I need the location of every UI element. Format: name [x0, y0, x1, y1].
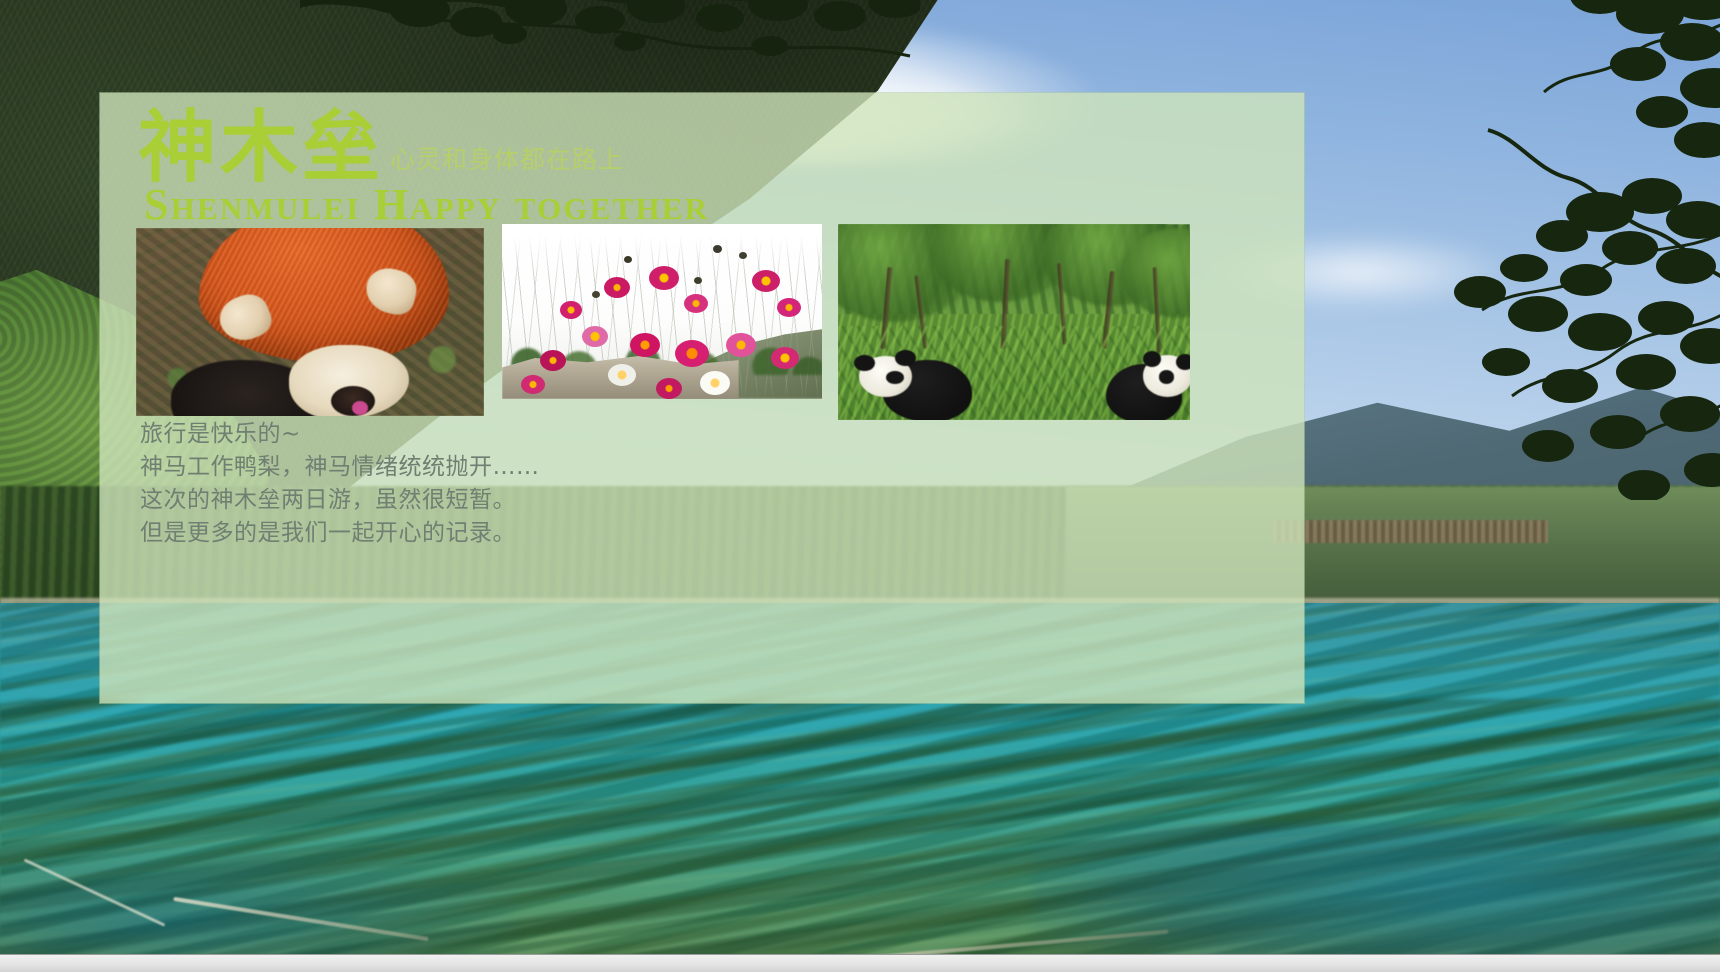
page-subtitle-cn: 心灵和身体都在路上 — [390, 145, 624, 175]
cosmos-bloom — [752, 270, 780, 292]
cosmos-bloom — [649, 266, 679, 290]
cosmos-bloom — [630, 333, 660, 357]
cosmos-bloom — [656, 378, 682, 399]
slide-canvas: 神木垒 心灵和身体都在路上 Shenmulei Happy together — [0, 0, 1720, 972]
bottom-status-bar — [0, 954, 1720, 972]
panda-ear — [1143, 351, 1161, 367]
cosmos-bloom — [777, 298, 801, 317]
cosmos-bloom — [608, 364, 636, 386]
panda-eye-patch — [1159, 370, 1175, 383]
giant-panda-right — [1106, 349, 1190, 420]
panda-ear — [895, 350, 915, 366]
deep-water-right — [1032, 824, 1720, 972]
boardwalk — [1273, 520, 1548, 543]
page-title-en: Shenmulei Happy together — [144, 181, 709, 229]
content-panel: 神木垒 心灵和身体都在路上 Shenmulei Happy together — [100, 93, 1304, 703]
panda-ear — [854, 355, 874, 371]
cosmos-bloom — [560, 301, 582, 319]
photo-strip — [136, 224, 1236, 424]
body-line-4: 但是更多的是我们一起开心的记录。 — [140, 517, 540, 550]
cosmos-bloom — [771, 347, 799, 369]
panda-eye-patch — [886, 371, 904, 384]
body-line-1: 旅行是快乐的~ — [140, 418, 540, 451]
cosmos-blooms — [502, 224, 822, 399]
cosmos-bud — [713, 245, 722, 253]
cosmos-bloom — [521, 375, 545, 394]
cosmos-bud — [592, 291, 600, 298]
body-paragraph: 旅行是快乐的~ 神马工作鸭梨，神马情绪统统抛开…… 这次的神木垒两日游，虽然很短… — [140, 418, 540, 550]
cosmos-bloom — [675, 340, 709, 367]
body-line-2: 神马工作鸭梨，神马情绪统统抛开…… — [140, 451, 540, 484]
title-block: 神木垒 心灵和身体都在路上 — [138, 105, 624, 191]
cosmos-bloom — [684, 294, 708, 313]
cosmos-flowers-photo[interactable] — [502, 224, 822, 399]
panda-ear — [1176, 354, 1190, 370]
giant-panda-left — [852, 346, 972, 420]
body-line-3: 这次的神木垒两日游，虽然很短暂。 — [140, 484, 540, 517]
cosmos-bud — [624, 256, 632, 263]
cosmos-bud — [694, 277, 702, 284]
cosmos-bloom — [540, 350, 566, 371]
red-panda-photo[interactable] — [136, 228, 484, 416]
page-title-cn: 神木垒 — [138, 105, 384, 191]
giant-pandas-photo[interactable] — [838, 224, 1190, 420]
cosmos-bud — [739, 252, 747, 259]
red-panda-tongue — [352, 401, 368, 415]
cosmos-bloom — [726, 333, 756, 357]
cosmos-bloom — [700, 371, 730, 395]
cosmos-bloom — [604, 277, 630, 298]
cosmos-bloom — [582, 326, 608, 347]
